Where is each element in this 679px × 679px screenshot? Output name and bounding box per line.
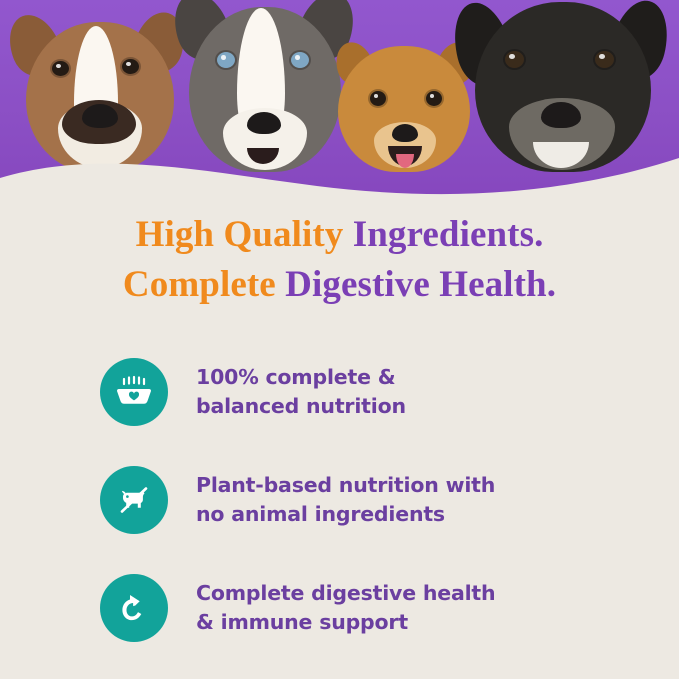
headline-line-1-purple: Ingredients.: [353, 214, 544, 255]
stomach-heart-icon: [100, 574, 168, 642]
benefit-item-plant-based-text: Plant-based nutrition with no animal ing…: [196, 471, 495, 529]
headline-line-1: High Quality Ingredients.: [0, 210, 679, 260]
dog-photo-banner: [0, 0, 679, 200]
benefit-3-line-1: Complete digestive health: [196, 581, 495, 605]
black-labrador-dog-photo: [455, 0, 670, 172]
benefit-1-line-1: 100% complete &: [196, 365, 395, 389]
benefit-item-nutrition: 100% complete & balanced nutrition: [0, 338, 679, 446]
benefit-2-line-1: Plant-based nutrition with: [196, 473, 495, 497]
benefit-item-digestive-health-text: Complete digestive health & immune suppo…: [196, 579, 495, 637]
boxer-dog-photo: [8, 0, 188, 172]
benefit-1-line-2: balanced nutrition: [196, 392, 406, 421]
border-collie-dog-photo: [175, 0, 355, 172]
product-infographic: High Quality Ingredients. Complete Diges…: [0, 0, 679, 679]
headline-line-2-orange: Complete: [123, 264, 285, 305]
page-title: High Quality Ingredients. Complete Diges…: [0, 210, 679, 310]
benefits-list: 100% complete & balanced nutrition Plant…: [0, 338, 679, 662]
benefit-2-line-2: no animal ingredients: [196, 500, 495, 529]
headline-line-1-orange: High Quality: [136, 214, 353, 255]
benefit-3-line-2: & immune support: [196, 608, 495, 637]
benefit-item-plant-based: Plant-based nutrition with no animal ing…: [0, 446, 679, 554]
headline-line-2-purple: Digestive Health.: [285, 264, 556, 305]
benefit-item-nutrition-text: 100% complete & balanced nutrition: [196, 363, 406, 421]
dog-bowl-heart-icon: [100, 358, 168, 426]
no-animal-ingredients-icon: [100, 466, 168, 534]
benefit-item-digestive-health: Complete digestive health & immune suppo…: [0, 554, 679, 662]
headline-line-2: Complete Digestive Health.: [0, 260, 679, 310]
